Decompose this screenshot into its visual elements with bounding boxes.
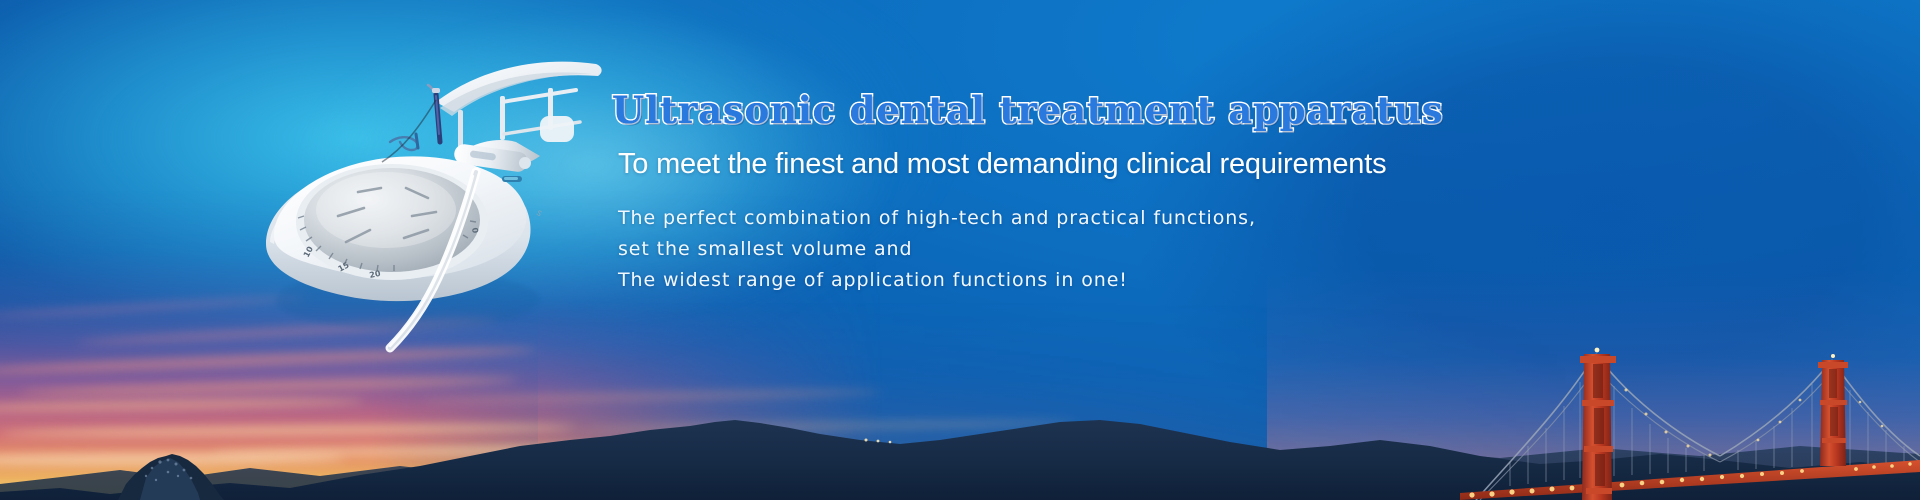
svg-text:S: S (535, 209, 544, 218)
product-image-ultrasonic-scaler: 10 15 20 0 S (240, 30, 620, 360)
water-bottle-holder (436, 62, 602, 150)
promo-banner: 10 15 20 0 S (0, 0, 1920, 500)
tower-beacon (1595, 348, 1600, 353)
banner-description: The perfect combination of high-tech and… (618, 203, 1612, 296)
page-title: Ultrasonic dental treatment apparatus (612, 88, 1443, 132)
scaler-tip (428, 85, 440, 142)
bridge-tower (1580, 354, 1616, 500)
description-line-2: set the smallest volume and (618, 234, 1612, 265)
brand-mark (390, 134, 418, 150)
description-line-1: The perfect combination of high-tech and… (618, 203, 1612, 234)
description-line-3: The widest range of application function… (618, 265, 1612, 296)
banner-copy: Ultrasonic dental treatment apparatus Ul… (612, 88, 1612, 296)
tower-beacon (1831, 354, 1835, 358)
bridge-tower (1818, 360, 1848, 466)
banner-subtitle: To meet the finest and most demanding cl… (618, 148, 1612, 181)
title-wrapper: Ultrasonic dental treatment apparatus Ul… (612, 88, 1612, 134)
